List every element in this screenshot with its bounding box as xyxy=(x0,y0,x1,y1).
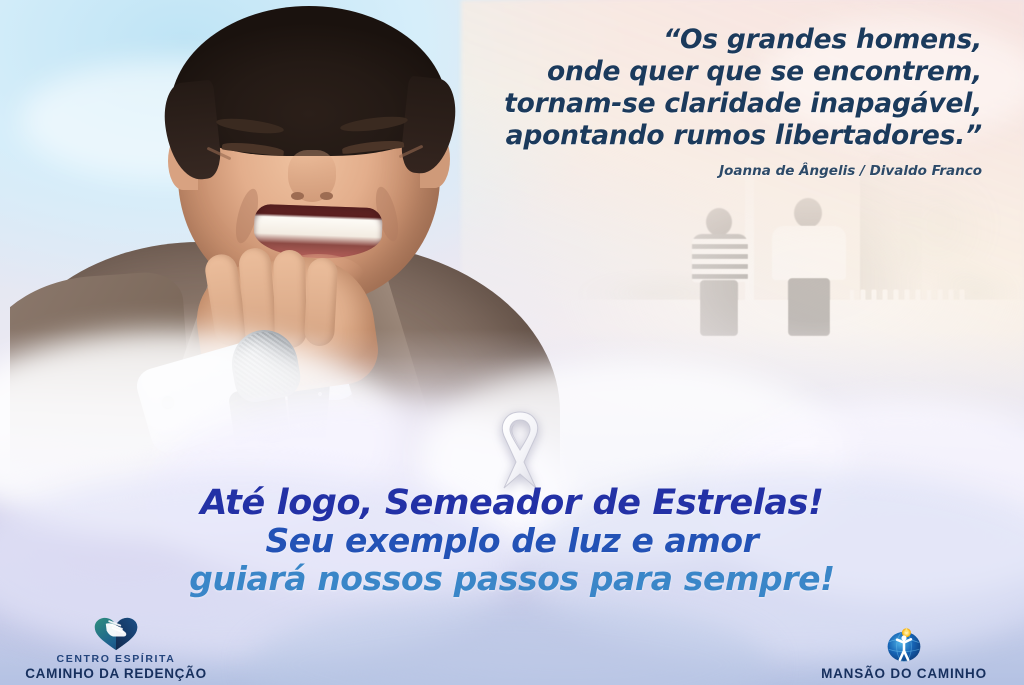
quote-line-1: “Os grandes homens, xyxy=(422,24,982,56)
globe-figure-star-icon xyxy=(794,629,1014,663)
quote-line-2: onde quer que se encontrem, xyxy=(422,56,982,88)
quote-block: “Os grandes homens, onde quer que se enc… xyxy=(422,24,982,179)
photo-person-striped-shirt xyxy=(688,208,750,330)
hands-heart-icon xyxy=(16,617,216,651)
headline-line-3: guiará nossos passos para sempre! xyxy=(0,560,1024,598)
logo-left-line-1: CENTRO ESPÍRITA xyxy=(16,653,216,665)
headline-line-2: Seu exemplo de luz e amor xyxy=(0,522,1024,560)
logo-centro-espirita: CENTRO ESPÍRITA CAMINHO DA REDENÇÃO xyxy=(16,617,216,681)
quote-line-3: tornam-se claridade inapagável, xyxy=(422,88,982,120)
nostril-right xyxy=(320,192,333,200)
headline-line-1: Até logo, Semeador de Estrelas! xyxy=(0,484,1024,522)
logo-right-line-1: MANSÃO DO CAMINHO xyxy=(794,666,1014,681)
headline-block: Até logo, Semeador de Estrelas! Seu exem… xyxy=(0,484,1024,598)
quote-line-4: apontando rumos libertadores.” xyxy=(422,120,982,152)
photo-person-white-shirt xyxy=(772,198,846,334)
logo-left-line-2: CAMINHO DA REDENÇÃO xyxy=(16,666,216,681)
memorial-poster: “Os grandes homens, onde quer que se enc… xyxy=(0,0,1024,685)
quote-attribution: Joanna de Ângelis / Divaldo Franco xyxy=(422,163,982,179)
logo-mansao-do-caminho: MANSÃO DO CAMINHO xyxy=(794,629,1014,681)
white-ribbon-icon xyxy=(482,408,558,492)
nostril-left xyxy=(291,192,304,200)
photo-fence xyxy=(850,290,970,326)
